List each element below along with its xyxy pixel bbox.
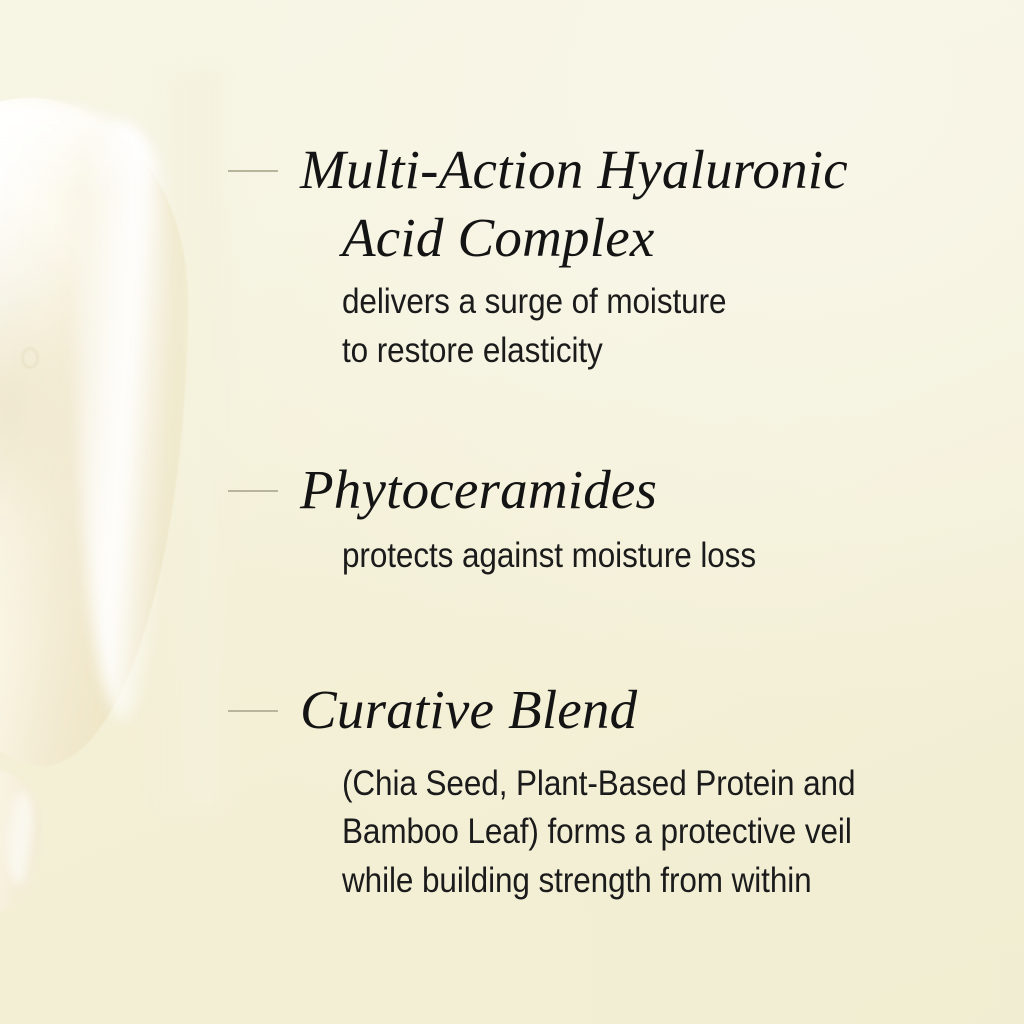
benefit-heading-line-1: Multi-Action Hyaluronic <box>300 139 848 200</box>
em-dash-icon <box>228 170 278 172</box>
em-dash-icon <box>228 710 278 712</box>
benefit-heading: Multi-Action HyaluronicAcid Complex <box>300 136 848 272</box>
benefit-item: Multi-Action HyaluronicAcid Complex deli… <box>228 136 848 375</box>
benefit-heading: Phytoceramides <box>300 456 802 524</box>
benefit-content: Curative Blend (Chia Seed, Plant-Based P… <box>300 676 912 905</box>
benefits-list: Multi-Action HyaluronicAcid Complex deli… <box>0 0 1024 1024</box>
benefit-description: (Chia Seed, Plant-Based Protein and Bamb… <box>342 760 855 905</box>
benefit-content: Phytoceramides protects against moisture… <box>300 456 802 580</box>
benefit-description: protects against moisture loss <box>342 532 756 580</box>
benefit-heading-line-2: Acid Complex <box>300 204 848 272</box>
benefit-description: delivers a surge of moisture to restore … <box>342 278 797 375</box>
product-benefits-panel: Multi-Action HyaluronicAcid Complex deli… <box>0 0 1024 1024</box>
benefit-heading: Curative Blend <box>300 676 912 744</box>
benefit-item: Curative Blend (Chia Seed, Plant-Based P… <box>228 676 912 905</box>
benefit-content: Multi-Action HyaluronicAcid Complex deli… <box>300 136 848 375</box>
em-dash-icon <box>228 490 278 492</box>
benefit-item: Phytoceramides protects against moisture… <box>228 456 802 580</box>
